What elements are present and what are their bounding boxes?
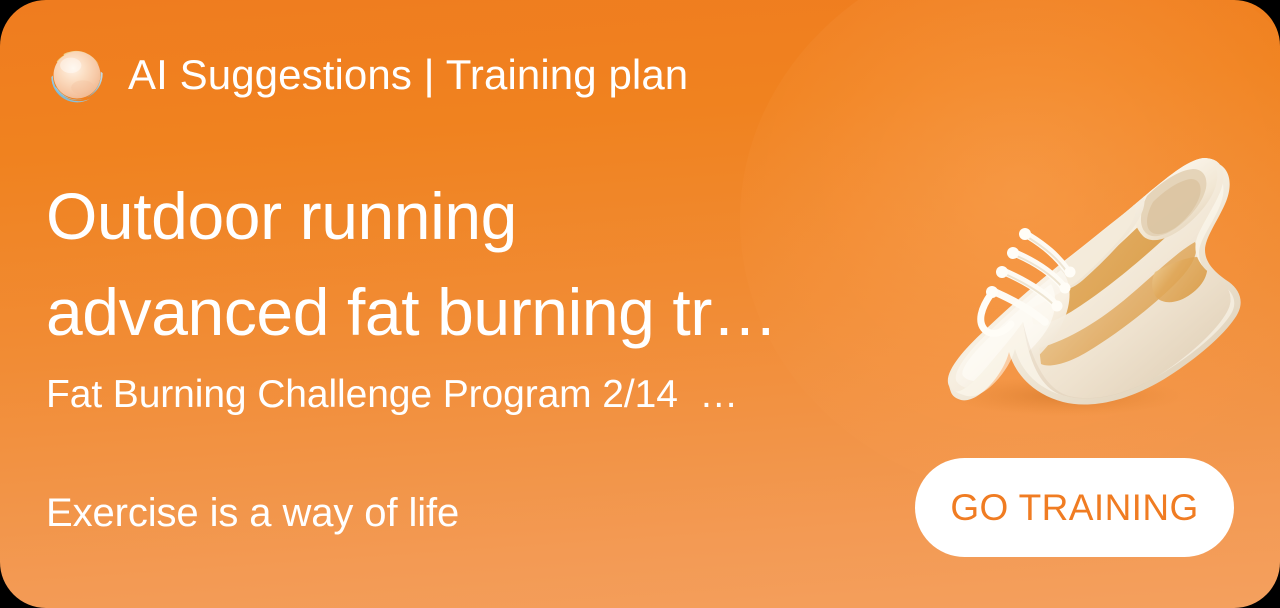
ai-suggestion-card: AI Suggestions | Training plan Outdoor r… [0,0,1280,608]
go-training-button[interactable]: GO TRAINING [915,458,1234,557]
motivational-tagline: Exercise is a way of life [46,487,459,539]
card-header: AI Suggestions | Training plan [46,44,688,106]
headline-line-2: advanced fat burning tr… [46,264,778,360]
running-shoe-illustration [905,86,1275,416]
headline-line-1: Outdoor running [46,168,778,264]
running-shoe-graphic [905,86,1275,416]
page-title: Outdoor running advanced fat burning tr… [46,168,778,360]
header-title: AI Suggestions | Training plan [128,54,688,96]
program-subtitle: Fat Burning Challenge Program 2/14 … [46,370,738,420]
ai-orb-icon [46,44,108,106]
